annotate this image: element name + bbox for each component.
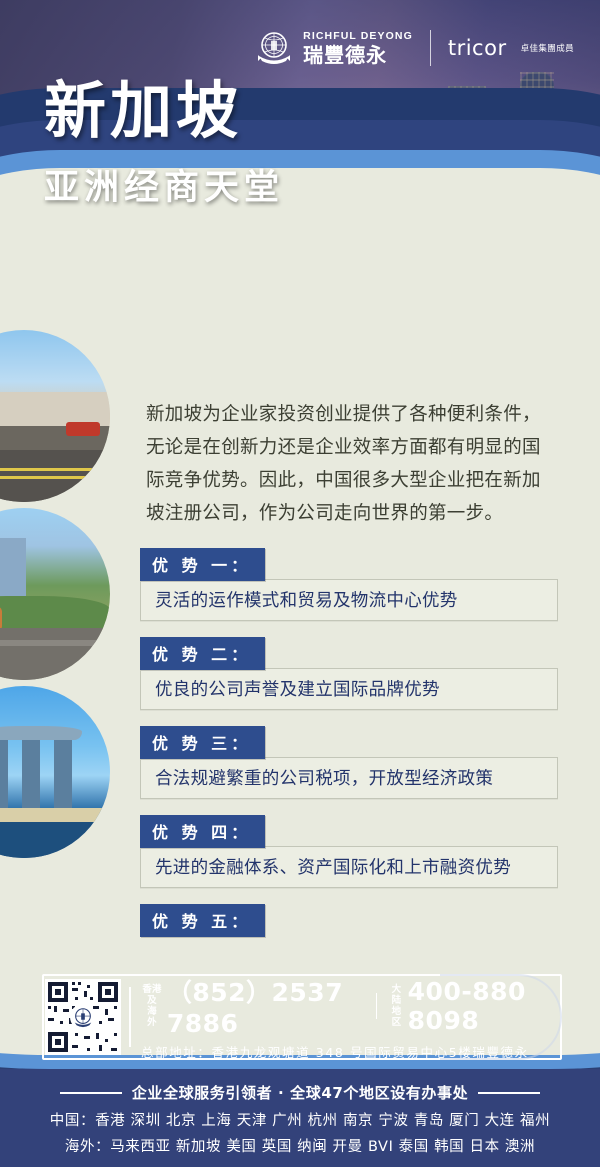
logo-partner-note: 卓佳集團成員 (521, 42, 574, 54)
footer-slogan: 企业全球服务引领者 · 全球47个地区设有办事处 (132, 1082, 468, 1103)
riverside-district-photo (0, 508, 110, 680)
advantage-text: 优良的公司声誉及建立国际品牌优势 (140, 668, 558, 710)
brand-logo: RICHFUL DEYONG 瑞豐德永 tricor 卓佳集團成員 (254, 28, 574, 68)
advantage-text: 合法规避繁重的公司税项，开放型经济政策 (140, 757, 558, 799)
advantage-item: 优 势 四： 先进的金融体系、资产国际化和上市融资优势 (140, 815, 558, 888)
hk-phone-number[interactable]: （852）2537 7886 (167, 973, 364, 1038)
poster-canvas: 新加坡 亚洲经商天堂 RICHFUL DEYONG 瑞豐德永 tricor 卓佳… (0, 0, 600, 1167)
advantage-text: 灵活的运作模式和贸易及物流中心优势 (140, 579, 558, 621)
marina-bay-sands-photo (0, 686, 110, 858)
footer-rule-right (478, 1092, 540, 1094)
advantage-item: 优 势 二： 优良的公司声誉及建立国际品牌优势 (140, 637, 558, 710)
hk-phone-label: 香港及 海 外 (141, 984, 163, 1028)
page-title: 新加坡 (44, 78, 284, 143)
advantages-list: 优 势 一： 灵活的运作模式和贸易及物流中心优势 优 势 二： 优良的公司声誉及… (140, 548, 558, 993)
footer-location-list: 中国：香港 深圳 北京 上海 天津 广州 杭州 南京 宁波 青岛 厦门 大连 福… (0, 1108, 600, 1160)
shophouse-street-photo (0, 330, 110, 502)
cn-phone-label: 大陆 地区 (389, 984, 404, 1028)
contact-rounded-outline (440, 974, 562, 1060)
advantage-label: 优 势 一： (140, 548, 265, 581)
advantage-label: 优 势 三： (140, 726, 265, 759)
qr-code-icon[interactable] (45, 979, 121, 1055)
footer-slogan-row: 企业全球服务引领者 · 全球47个地区设有办事处 (0, 1082, 600, 1103)
contact-bar: 香港及 海 外 （852）2537 7886 大陆 地区 400-880 809… (42, 974, 562, 1060)
page-title-block: 新加坡 亚洲经商天堂 (44, 78, 284, 210)
advantage-item: 优 势 三： 合法规避繁重的公司税项，开放型经济政策 (140, 726, 558, 799)
qr-center-logo-icon (70, 1004, 96, 1030)
intro-paragraph: 新加坡为企业家投资创业提供了各种便利条件，无论是在创新力还是企业效率方面都有明显… (146, 398, 546, 530)
contact-divider (129, 987, 131, 1047)
page-subtitle: 亚洲经商天堂 (44, 159, 284, 210)
phone-divider (376, 993, 378, 1019)
advantage-text: 先进的金融体系、资产国际化和上市融资优势 (140, 846, 558, 888)
footer-locations-overseas: 海外：马来西亚 新加坡 美国 英国 纳闽 开曼 BVI 泰国 韩国 日本 澳洲 (0, 1134, 600, 1160)
logo-partner: tricor (448, 36, 507, 60)
advantage-item: 优 势 一： 灵活的运作模式和贸易及物流中心优势 (140, 548, 558, 621)
crest-emblem-icon (254, 28, 294, 68)
logo-english: RICHFUL DEYONG (303, 31, 413, 42)
footer-rule-left (60, 1092, 122, 1094)
advantage-label: 优 势 五： (140, 904, 265, 937)
advantage-label: 优 势 二： (140, 637, 265, 670)
advantage-label: 优 势 四： (140, 815, 265, 848)
logo-chinese: 瑞豐德永 (303, 45, 413, 65)
footer-locations-china: 中国：香港 深圳 北京 上海 天津 广州 杭州 南京 宁波 青岛 厦门 大连 福… (0, 1108, 600, 1134)
logo-divider (430, 30, 431, 66)
logo-text: RICHFUL DEYONG 瑞豐德永 (303, 31, 413, 65)
